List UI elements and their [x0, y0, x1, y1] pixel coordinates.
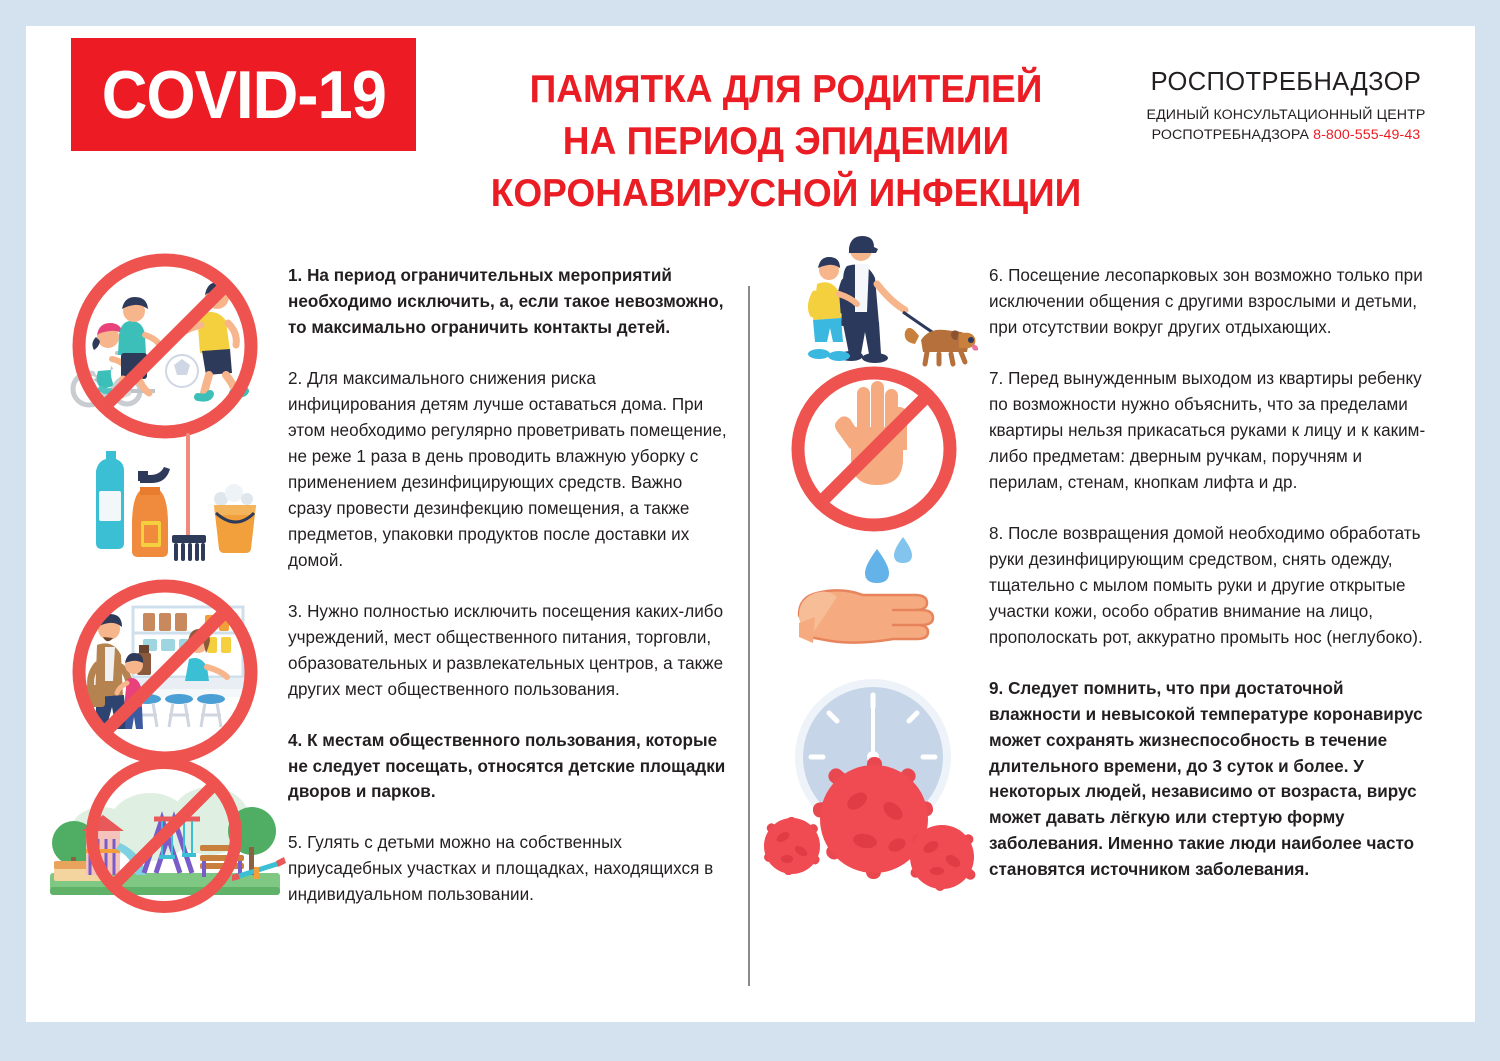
title-line-3: КОРОНАВИРУСНОЙ ИНФЕКЦИИ: [463, 168, 1109, 220]
family-walking-dog-icon: [791, 236, 981, 366]
clock-virus-icon: [761, 669, 991, 899]
content-columns: 1. На период ограничительных мероприятий…: [26, 241, 1475, 1001]
no-children-playing-icon: [65, 249, 265, 439]
wash-hands-icon: [785, 523, 975, 673]
instruction-4: 4. К местам общественного пользования, к…: [288, 728, 728, 806]
page-title: ПАМЯТКА ДЛЯ РОДИТЕЛЕЙ НА ПЕРИОД ЭПИДЕМИИ…: [446, 64, 1126, 220]
instruction-5: 5. Гулять с детьми можно на собственных …: [288, 830, 728, 908]
instruction-3: 3. Нужно полностью исключить посещения к…: [288, 599, 728, 703]
agency-contact: ЕДИНЫЙ КОНСУЛЬТАЦИОННЫЙ ЦЕНТР РОСПОТРЕБН…: [1131, 106, 1441, 145]
poster-card: COVID-19 ПАМЯТКА ДЛЯ РОДИТЕЛЕЙ НА ПЕРИОД…: [26, 26, 1475, 1022]
poster-header: COVID-19 ПАМЯТКА ДЛЯ РОДИТЕЛЕЙ НА ПЕРИОД…: [26, 26, 1475, 241]
covid-19-badge-label: COVID-19: [101, 61, 385, 129]
instruction-1: 1. На период ограничительных мероприятий…: [288, 263, 728, 341]
covid-19-badge: COVID-19: [71, 38, 416, 151]
right-illustrations: [771, 241, 986, 1001]
title-line-1: ПАМЯТКА ДЛЯ РОДИТЕЛЕЙ: [463, 64, 1109, 116]
cleaning-supplies-icon: [80, 429, 260, 579]
agency-center-line-2: РОСПОТРЕБНАДЗОРА: [1152, 127, 1309, 143]
agency-block: РОСПОТРЕБНАДЗОР ЕДИНЫЙ КОНСУЛЬТАЦИОННЫЙ …: [1131, 68, 1441, 145]
no-cafe-visit-icon: [65, 575, 265, 765]
column-divider: [748, 286, 750, 986]
agency-phone: 8-800-555-49-43: [1313, 127, 1420, 143]
instruction-7: 7. Перед вынужденным выходом из квартиры…: [989, 366, 1429, 496]
instruction-9: 9. Следует помнить, что при достаточной …: [989, 676, 1429, 884]
no-playground-icon: [40, 757, 288, 917]
title-line-2: НА ПЕРИОД ЭПИДЕМИИ: [463, 116, 1109, 168]
instruction-6: 6. Посещение лесопарковых зон возможно т…: [989, 263, 1429, 341]
no-touching-hand-icon: [779, 359, 969, 539]
agency-name: РОСПОТРЕБНАДЗОР: [1131, 68, 1441, 97]
left-text-stack: 1. На период ограничительных мероприятий…: [288, 263, 728, 933]
instruction-8: 8. После возвращения домой необходимо об…: [989, 521, 1429, 651]
left-illustrations: [60, 241, 275, 1001]
right-text-stack: 6. Посещение лесопарковых зон возможно т…: [989, 263, 1429, 908]
instruction-2: 2. Для максимального снижения риска инфи…: [288, 366, 728, 574]
agency-center-line-1: ЕДИНЫЙ КОНСУЛЬТАЦИОННЫЙ ЦЕНТР: [1147, 107, 1426, 123]
right-column: 6. Посещение лесопарковых зон возможно т…: [761, 241, 1461, 1001]
left-column: 1. На период ограничительных мероприятий…: [38, 241, 738, 1001]
